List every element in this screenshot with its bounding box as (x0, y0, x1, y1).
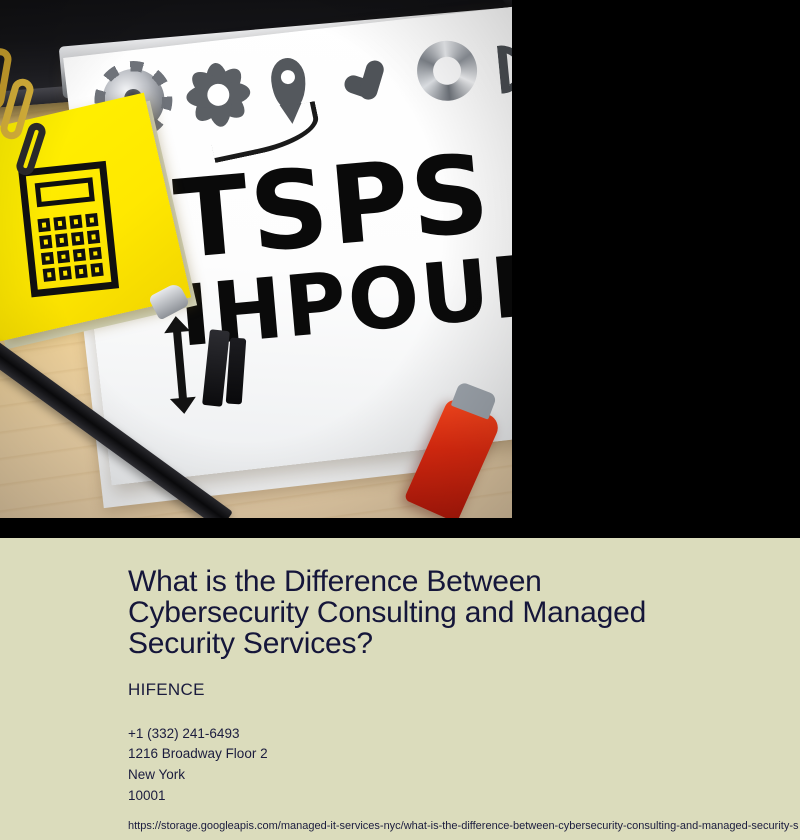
heart-icon (342, 58, 394, 102)
hero-photo: TSPS IHPOUPRT (0, 0, 512, 518)
hero-banner: TSPS IHPOUPRT (0, 0, 800, 538)
page-title: What is the Difference Between Cybersecu… (128, 566, 720, 660)
source-url[interactable]: https://storage.googleapis.com/managed-i… (128, 815, 800, 840)
contact-city: New York (128, 765, 800, 786)
article-panel: What is the Difference Between Cybersecu… (0, 538, 800, 840)
calculator-keys (37, 213, 103, 282)
metal-ring-icon (414, 38, 479, 103)
contact-block: +1 (332) 241-6493 1216 Broadway Floor 2 … (128, 724, 800, 808)
calculator-drawing (18, 161, 119, 297)
contact-postal-code: 10001 (128, 786, 800, 807)
calculator-screen (35, 177, 95, 207)
page-root: TSPS IHPOUPRT (0, 0, 800, 840)
d-letter-shape (497, 43, 512, 93)
contact-phone[interactable]: +1 (332) 241-6493 (128, 724, 800, 745)
contact-street: 1216 Broadway Floor 2 (128, 744, 800, 765)
brand-name: HIFENCE (128, 680, 800, 700)
hand-lettering: TSPS IHPOUPRT (171, 129, 512, 356)
